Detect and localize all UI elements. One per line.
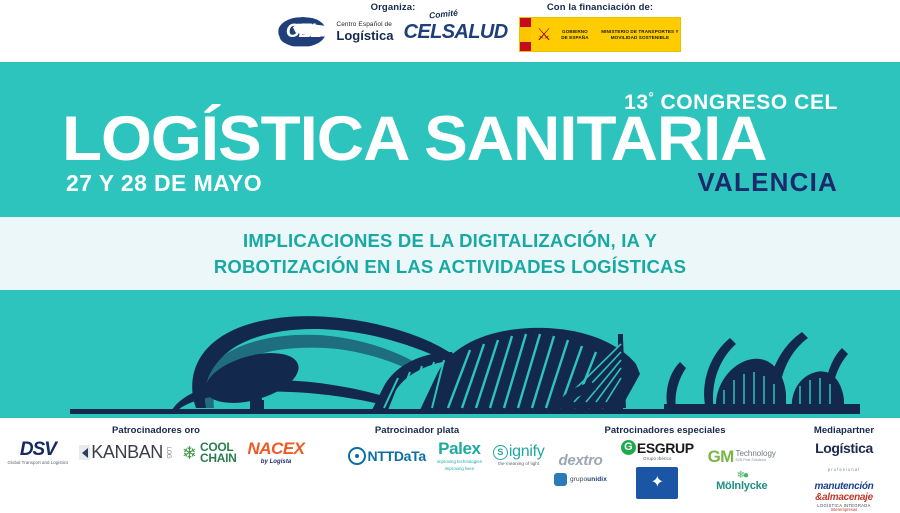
coolchain-wordmark: COOL CHAIN [200,442,237,464]
celsalud-logo[interactable]: Comité CELSALUD [403,18,507,46]
sponsors-footer: Patrocinadores oro DSV Global Transport … [0,418,900,500]
spain-shield-icon: ⚔ [531,18,557,51]
cel-swoosh-icon: CEL [278,17,326,47]
snowflake-icon: ❄ [182,446,197,460]
unidix-wordmark: grupounidix [570,476,607,483]
gm-wordmark: GM [708,447,734,467]
dsv-tagline: Global Transport and Logistics [7,461,68,465]
sponsor-logo-palex[interactable]: Palex improving technologies improving l… [437,440,482,471]
sponsor-logo-gmtechnology[interactable]: GM Technology B2B Post Solutions [708,447,776,467]
sponsor-heading-plata: Patrocinador plata [292,425,542,436]
hero-band: 13º CONGRESO CEL LOGÍSTICA SANITARIA 27 … [0,62,900,217]
sponsor-logo-gesgrup[interactable]: G ESGRUP Grupo Ibérico [621,440,694,462]
sponsor-logo-dsv[interactable]: DSV Global Transport and Logistics [7,440,68,465]
spain-government-logo[interactable]: ⚔ GOBIERNO DE ESPAÑA MINISTERIO DE TRANS… [519,17,681,52]
organizer-strip: Organiza: CEL Centro Español de Logístic… [0,0,900,62]
logistica-profesional-tagline: profesional [828,467,860,472]
signify-s-icon: S [493,445,508,460]
gesgrup-g-icon: G [621,440,636,455]
molnlycke-wordmark: Mölnlycke [716,480,767,492]
unidix-cube-icon [554,473,567,486]
nacex-tagline: by Logista [261,459,292,465]
palex-tagline-2: improving lives [445,466,474,471]
kanban-wordmark: KANBAN [91,442,163,463]
sponsor-heading-especiales: Patrocinadores especiales [540,425,790,436]
spain-flag-icon [520,18,531,51]
subtitle-line1: IMPLICACIONES DE LA DIGITALIZACIÓN, IA Y [243,230,657,251]
palex-wordmark: Palex [438,440,480,457]
funding-block: Con la financiación de: ⚔ GOBIERNO DE ES… [500,2,700,52]
nttdata-wordmark: NTTDaTa [368,448,426,464]
gmtech-line1: Technology [735,450,775,458]
event-city: VALENCIA [697,168,838,196]
kanban-arrow-icon [79,445,90,460]
valencia-skyline-illustration [0,290,900,418]
dsv-wordmark: DSV [20,440,56,459]
subtitle-text: IMPLICACIONES DE LA DIGITALIZACIÓN, IA Y… [214,228,686,280]
gov-logo-line1: GOBIERNO DE ESPAÑA [559,29,591,40]
cel-logo-text: Centro Español de Logística [336,22,393,42]
manutencion-line1: manutención [815,482,874,493]
signify-tagline: the meaning of light [498,462,539,467]
manutencion-line4: Interempresas [815,508,874,512]
gesgrup-wordmark: ESGRUP [637,441,694,455]
event-dates: 27 Y 28 DE MAYO [66,170,262,196]
sponsor-group-mediapartner: Mediapartner Logística profesional manut… [790,418,898,513]
subtitle-line2: ROBOTIZACIÓN EN LAS ACTIVIDADES LOGÍSTIC… [214,256,686,277]
molnlycke-leaves-icon: ❄● [737,472,747,480]
organiza-label: Organiza: [258,2,528,14]
financiacion-label: Con la financiación de: [500,2,700,14]
cel-logo[interactable]: CEL [278,17,326,47]
sponsor-logo-grupounidix[interactable]: grupounidix [554,473,607,486]
sponsor-logo-nttdata[interactable]: NTTDaTa [348,447,426,465]
celsalud-comite-label: Comité [429,8,459,21]
logistica-profesional-wordmark: Logística [815,440,873,456]
gmtech-line2: B2B Post Solutions [735,458,775,463]
coolchain-line2: CHAIN [200,451,237,465]
sponsor-logo-coolchain[interactable]: ❄ COOL CHAIN [182,442,237,464]
sponsor-logo-signify[interactable]: S ignify the meaning of light [493,444,545,467]
gesgrup-tagline: Grupo Ibérico [643,457,671,462]
sponsor-logo-kanban[interactable]: KANBAN LOG [79,442,171,463]
organizer-block: Organiza: CEL Centro Español de Logístic… [258,2,528,47]
sponsor-heading-mediapartner: Mediapartner [790,425,898,436]
sponsor-group-plata: Patrocinador plata NTTDaTa Palex improvi… [292,418,542,471]
gov-logo-line2: MINISTERIO DE TRANSPORTES Y MOVILIDAD SO… [600,29,680,40]
moliner-star-icon: ✦ [651,476,664,490]
palex-tagline-1: improving technologies [437,459,482,464]
page-title: LOGÍSTICA SANITARIA [62,106,767,172]
celsalud-wordmark: CELSALUD [403,21,507,43]
sponsor-logo-dextro[interactable]: dextro [558,453,602,468]
manutencion-line2: &almacenaje [815,493,874,504]
cel-logo-mark: CEL [280,20,326,44]
sponsor-group-oro: Patrocinadores oro DSV Global Transport … [6,418,306,465]
city-of-arts-sciences-icon [0,290,900,418]
subtitle-band: IMPLICACIONES DE LA DIGITALIZACIÓN, IA Y… [0,217,900,290]
kanban-suffix: LOG [165,447,171,458]
sponsor-logo-molnlycke[interactable]: ❄● Mölnlycke [716,472,767,492]
sponsor-group-especiales: Patrocinadores especiales dextro grupoun… [540,418,790,499]
cel-logo-line2: Logística [336,29,393,43]
dextro-wordmark: dextro [558,453,602,468]
sponsor-logo-manutencion-almacenaje[interactable]: manutención &almacenaje LOGÍSTICA INTEGR… [815,482,874,513]
sponsor-heading-oro: Patrocinadores oro [6,425,306,436]
ntt-circle-icon [348,447,366,465]
sponsor-logo-moliner[interactable]: ✦ [636,467,678,499]
congress-banner: Organiza: CEL Centro Español de Logístic… [0,0,900,500]
sponsor-logo-logistica-profesional[interactable]: Logística profesional [815,440,873,476]
